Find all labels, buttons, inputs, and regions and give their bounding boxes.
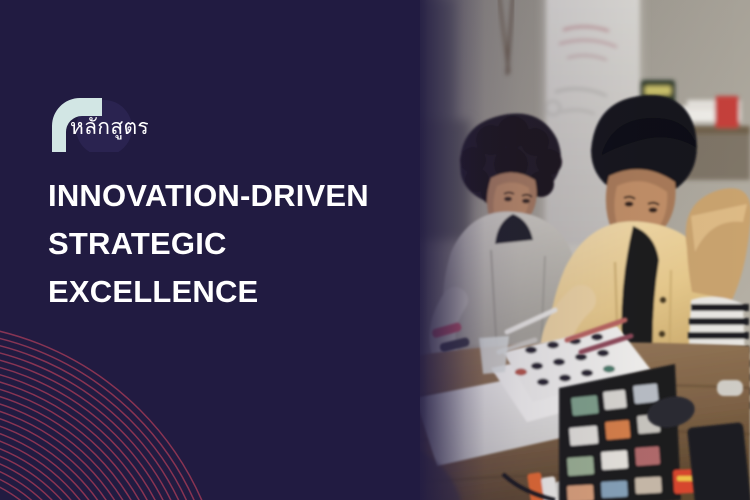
logo-wordmark: หลักสูตร — [70, 117, 149, 138]
promo-banner: หลักสูตร INNOVATION-DRIVEN STRATEGIC EXC… — [0, 0, 750, 500]
headline-line-2: STRATEGIC — [48, 220, 408, 268]
hero-photo — [395, 0, 750, 500]
page-title: INNOVATION-DRIVEN STRATEGIC EXCELLENCE — [48, 172, 408, 316]
headline-line-3: EXCELLENCE — [48, 268, 408, 316]
hero-photo-illustration — [395, 0, 750, 500]
headline-line-1: INNOVATION-DRIVEN — [48, 172, 408, 220]
brand-logo[interactable]: หลักสูตร — [48, 98, 228, 154]
